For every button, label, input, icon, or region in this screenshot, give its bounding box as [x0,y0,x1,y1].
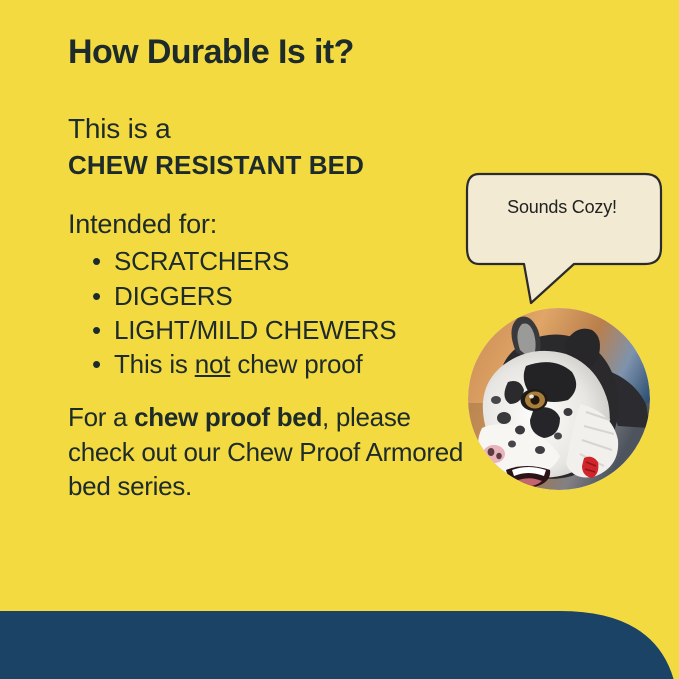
closing-prefix: For a [68,402,134,432]
intended-for-list: • SCRATCHERS • DIGGERS • LIGHT/MILD CHEW… [68,244,396,381]
bullet-icon: • [92,347,101,381]
list-item-disclaimer: • This is not chew proof [92,347,396,381]
dog-photo-illustration [468,308,650,490]
speech-bubble-shape [463,170,665,306]
list-item: • SCRATCHERS [92,244,396,278]
disclaimer-text-before: This is [114,349,195,379]
list-item-label: LIGHT/MILD CHEWERS [114,315,396,345]
footer-band-shape [0,611,679,679]
list-item-label: SCRATCHERS [114,246,289,276]
closing-bold-product: chew proof bed [134,402,322,432]
list-item: • LIGHT/MILD CHEWERS [92,313,396,347]
dog-photo-avatar [468,308,650,490]
bullet-icon: • [92,279,101,313]
disclaimer-text-after: chew proof [230,349,362,379]
closing-paragraph: For a chew proof bed, please check out o… [68,400,468,504]
intro-line-2-product-type: CHEW RESISTANT BED [68,149,364,182]
bullet-icon: • [92,244,101,278]
list-item: • DIGGERS [92,279,396,313]
intro-block: This is a CHEW RESISTANT BED [68,111,364,182]
intended-for-title: Intended for: [68,208,396,240]
page-title: How Durable Is it? [68,33,354,71]
disclaimer-emphasis: not [195,349,231,379]
speech-bubble-text: Sounds Cozy! [463,197,661,218]
intro-line-1: This is a [68,111,364,147]
intended-for-block: Intended for: • SCRATCHERS • DIGGERS • L… [68,208,396,382]
list-item-label: DIGGERS [114,281,233,311]
speech-bubble: Sounds Cozy! [463,170,665,306]
footer-navy-band [0,611,679,679]
bullet-icon: • [92,313,101,347]
infographic-canvas: How Durable Is it? This is a CHEW RESIST… [0,0,679,679]
